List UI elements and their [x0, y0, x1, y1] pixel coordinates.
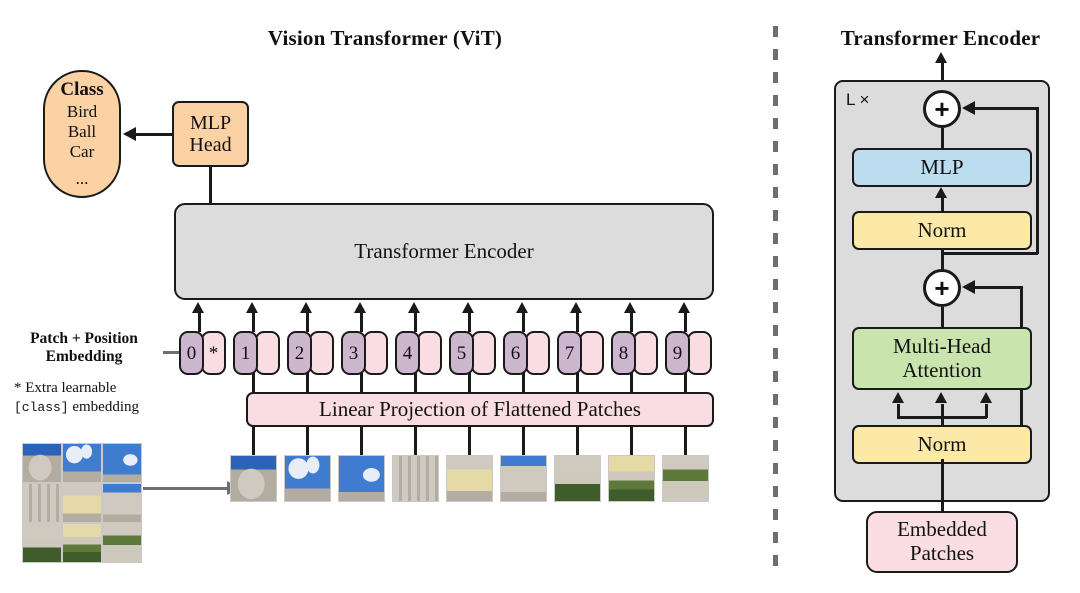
token-arrow-line-5 [468, 312, 471, 332]
class-heading: Class [60, 79, 103, 102]
patch-token-7: 7 [557, 331, 604, 375]
token-embedding-7 [579, 331, 604, 375]
token-stem-8 [630, 372, 633, 394]
class-note-tail: embedding [69, 399, 139, 415]
token-stem-7 [576, 372, 579, 394]
token-stem-3 [360, 372, 363, 394]
token-arrow-line-7 [576, 312, 579, 332]
token-arrow-line-1 [252, 312, 255, 332]
projection-stem-3 [360, 427, 363, 455]
token-stem-5 [468, 372, 471, 394]
token-class-star: * [201, 331, 226, 375]
plus-symbol-mid: + [934, 275, 949, 301]
token-position-9: 9 [665, 331, 690, 375]
token-arrow-line-3 [360, 312, 363, 332]
norm-lower-label: Norm [918, 433, 967, 457]
token-position-4: 4 [395, 331, 420, 375]
plus-symbol-top: + [934, 96, 949, 122]
repeat-count-label: L × [846, 90, 869, 110]
token-stem-9 [684, 372, 687, 394]
residual-top-tap [941, 252, 1038, 255]
flattened-patch-7 [554, 455, 601, 502]
flattened-patch-3 [338, 455, 385, 502]
embedded-patches-line1: Embedded [897, 518, 987, 542]
flattened-patch-8 [608, 455, 655, 502]
class-item-0: Bird [67, 102, 97, 122]
token-arrowhead-9 [678, 302, 690, 313]
flattened-patch-6 [500, 455, 547, 502]
class-item-1: Ball [68, 122, 96, 142]
token-stem-1 [252, 372, 255, 394]
residual-add-mid: + [923, 269, 961, 307]
flattened-patch-4 [392, 455, 439, 502]
patch-token-8: 8 [611, 331, 658, 375]
residual-add-top: + [923, 90, 961, 128]
token-stem-4 [414, 372, 417, 394]
token-arrowhead-4 [408, 302, 420, 313]
mlp-block-label: MLP [920, 156, 963, 180]
patch-token-4: 4 [395, 331, 442, 375]
qkv-center-arrowhead [935, 392, 947, 403]
qkv-left-arrowhead [892, 392, 904, 403]
transformer-encoder-label: Transformer Encoder [354, 240, 533, 264]
token-embedding-5 [471, 331, 496, 375]
patch-token-6: 6 [503, 331, 550, 375]
projection-stem-1 [252, 427, 255, 455]
token-arrowhead-2 [300, 302, 312, 313]
linear-projection-label: Linear Projection of Flattened Patches [319, 398, 641, 422]
mlp-to-add-line [941, 128, 944, 150]
patch-token-2: 2 [287, 331, 334, 375]
patch-token-1: 1 [233, 331, 280, 375]
token-position-8: 8 [611, 331, 636, 375]
residual-mid-arrowhead [962, 280, 975, 294]
flattened-patch-5 [446, 455, 493, 502]
qkv-left-riser [897, 404, 900, 418]
token-arrow-line-6 [522, 312, 525, 332]
token-arrowhead-5 [462, 302, 474, 313]
token-stem-6 [522, 372, 525, 394]
token-arrow-line-0 [198, 312, 201, 332]
mlp-head-line2: Head [189, 134, 231, 156]
residual-top-in [975, 107, 1039, 110]
token-arrow-line-4 [414, 312, 417, 332]
mlp-head-stem [209, 167, 212, 204]
embedded-patches-line2: Patches [910, 542, 974, 566]
token-embedding-2 [309, 331, 334, 375]
token-arrowhead-6 [516, 302, 528, 313]
norm-upper-to-mlp-arrowhead [935, 187, 947, 198]
multi-head-attention-block: Multi-Head Attention [852, 327, 1032, 390]
projection-stem-2 [306, 427, 309, 455]
encoder-title: Transformer Encoder [808, 26, 1073, 51]
flattened-patch-1 [230, 455, 277, 502]
class-item-2: Car [70, 142, 95, 162]
residual-top-riser [1036, 107, 1039, 254]
mlp-block: MLP [852, 148, 1032, 187]
transformer-encoder-block: Transformer Encoder [174, 203, 714, 300]
residual-top-arrowhead [962, 101, 975, 115]
mlp-to-class-arrowhead [123, 127, 136, 141]
token-position-5: 5 [449, 331, 474, 375]
embedded-to-norm-line [941, 459, 944, 511]
class-output-pill: Class Bird Ball Car ... [43, 70, 121, 198]
attention-line2: Attention [902, 359, 981, 383]
class-ellipsis: ... [76, 169, 89, 189]
projection-stem-7 [576, 427, 579, 455]
vit-title: Vision Transformer (ViT) [170, 26, 600, 51]
patch-token-9: 9 [665, 331, 712, 375]
attention-line1: Multi-Head [893, 335, 991, 359]
source-patch-2-2 [102, 523, 142, 563]
token-arrow-line-8 [630, 312, 633, 332]
mlp-to-class-line [136, 133, 172, 136]
residual-mid-in [975, 286, 1023, 289]
panel-divider [773, 26, 778, 572]
token-position-1: 1 [233, 331, 258, 375]
embedded-patches-block: Embedded Patches [866, 511, 1018, 573]
norm-upper-block: Norm [852, 211, 1032, 250]
token-arrowhead-8 [624, 302, 636, 313]
token-arrowhead-3 [354, 302, 366, 313]
token-position-7: 7 [557, 331, 582, 375]
token-position-2: 2 [287, 331, 312, 375]
class-note-line2: [class] embedding [14, 398, 189, 417]
token-stem-2 [306, 372, 309, 394]
patch-token-5: 5 [449, 331, 496, 375]
source-patch-2-1 [62, 523, 102, 563]
norm-upper-label: Norm [918, 219, 967, 243]
mlp-head-box: MLP Head [172, 101, 249, 167]
linear-projection-box: Linear Projection of Flattened Patches [246, 392, 714, 427]
projection-stem-5 [468, 427, 471, 455]
source-patch-2-0 [22, 523, 62, 563]
token-embedding-1 [255, 331, 280, 375]
projection-stem-6 [522, 427, 525, 455]
projection-stem-8 [630, 427, 633, 455]
token-embedding-8 [633, 331, 658, 375]
token-position-6: 6 [503, 331, 528, 375]
projection-stem-9 [684, 427, 687, 455]
qkv-right-arrowhead [980, 392, 992, 403]
token-embedding-6 [525, 331, 550, 375]
token-arrowhead-0 [192, 302, 204, 313]
token-arrowhead-1 [246, 302, 258, 313]
patch-token-0: 0* [179, 331, 226, 375]
token-embedding-4 [417, 331, 442, 375]
token-arrowhead-7 [570, 302, 582, 313]
token-embedding-3 [363, 331, 388, 375]
token-arrow-line-2 [306, 312, 309, 332]
patch-token-3: 3 [341, 331, 388, 375]
flattened-patch-2 [284, 455, 331, 502]
token-embedding-9 [687, 331, 712, 375]
token-arrow-line-9 [684, 312, 687, 332]
attention-to-add-line [941, 307, 944, 328]
flattened-patch-9 [662, 455, 709, 502]
qkv-right-riser [985, 404, 988, 418]
mid-add-to-norm-line [941, 250, 944, 270]
norm-upper-to-mlp-line [941, 198, 944, 212]
token-position-0: 0 [179, 331, 204, 375]
mlp-head-line1: MLP [190, 112, 231, 134]
class-token-mono: [class] [14, 400, 69, 415]
encoder-output-arrowhead [935, 52, 947, 63]
projection-stem-4 [414, 427, 417, 455]
token-position-3: 3 [341, 331, 366, 375]
